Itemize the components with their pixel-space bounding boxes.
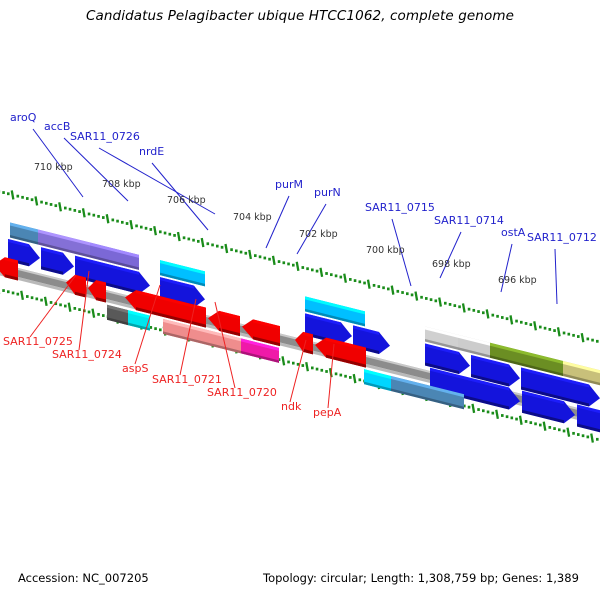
ruler-tick-minor (425, 297, 428, 300)
ruler-tick-minor (335, 274, 338, 277)
ruler-tick-minor (525, 322, 528, 325)
ruler-tick-major (544, 422, 546, 431)
ruler-tick-minor (482, 409, 485, 412)
ruler-tick-minor (468, 308, 471, 311)
ruler-tick-minor (587, 436, 590, 439)
ruler-tick-minor (577, 433, 580, 436)
ruler-tick-major (439, 298, 441, 307)
ruler-tick-minor (591, 339, 594, 342)
ruler-tick-minor (135, 224, 138, 227)
ruler-tick-minor (563, 430, 566, 433)
ruler-tick-minor (173, 234, 176, 237)
ruler-tick-major (178, 232, 180, 241)
ruler-tick-minor (420, 296, 423, 299)
ruler-tick-major (591, 434, 593, 443)
ruler-tick-minor (382, 286, 385, 289)
ruler-tick-minor (539, 326, 542, 329)
ruler-tick-minor (7, 290, 10, 293)
ruler-tick-minor (515, 418, 518, 421)
forward-gene-labels[interactable]: aroQaccBSAR11_0726nrdEpurMpurNSAR11_0715… (10, 111, 597, 244)
ruler-tick-major (59, 202, 61, 211)
ruler-tick-minor (577, 335, 580, 338)
ruler-tick-minor (36, 297, 39, 300)
ruler-tick-minor (150, 228, 153, 231)
gene-feature[interactable] (577, 405, 600, 440)
ruler-tick-minor (69, 208, 72, 211)
ruler-tick-minor (359, 280, 362, 283)
ruler-tick-minor (349, 278, 352, 281)
ruler-tick-minor (97, 313, 100, 316)
ruler-tick-minor (468, 406, 471, 409)
ruler-tick-minor (74, 307, 77, 310)
ruler-tick-minor (292, 362, 295, 365)
ruler-tick-minor (501, 316, 504, 319)
lower-domain-track[interactable] (107, 305, 464, 409)
ruler-tick-minor (406, 292, 409, 295)
ruler-tick-minor (321, 369, 324, 372)
ruler-tick-minor (544, 327, 547, 330)
ruler-tick-minor (78, 210, 81, 213)
ruler-tick-major (297, 262, 299, 271)
ruler-tick-major (473, 404, 475, 413)
gene-label[interactable]: aspS (122, 362, 148, 375)
ruler-tick-major (107, 214, 109, 223)
ruler-tick-minor (340, 276, 343, 279)
ruler-tick-minor (268, 258, 271, 261)
ruler-tick-minor (116, 220, 119, 223)
label-leader-line (64, 138, 128, 201)
ruler-tick-minor (496, 315, 499, 318)
ruler-tick-major (568, 428, 570, 437)
ruler-tick-minor (26, 197, 29, 200)
ruler-tick-minor (26, 295, 29, 298)
ruler-tick-minor (316, 270, 319, 273)
gene-label[interactable]: SAR11_0725 (3, 335, 73, 348)
ruler-tick-minor (482, 311, 485, 314)
ruler-tick-minor (477, 310, 480, 313)
gene-label[interactable]: nrdE (139, 145, 164, 158)
ruler-tick-minor (344, 375, 347, 378)
ruler-tick-minor (17, 195, 20, 198)
ruler-tick-minor (530, 421, 533, 424)
ruler-tick-minor (553, 329, 556, 332)
ruler-tick-major (12, 190, 14, 199)
ruler-tick-minor (596, 340, 599, 343)
ruler-tick-minor (74, 209, 77, 212)
ruler-tick-minor (230, 248, 233, 251)
gene-feature[interactable] (295, 332, 313, 354)
ruler-tick-minor (59, 303, 62, 306)
ruler-tick-minor (211, 244, 214, 247)
gene-label[interactable]: aroQ (10, 111, 37, 124)
ruler-tick-minor (12, 292, 15, 295)
ruler-tick-minor (335, 372, 338, 375)
ruler-tick-minor (159, 328, 162, 331)
ruler-tick-minor (78, 308, 81, 311)
ruler-tick-minor (435, 299, 438, 302)
ruler-tick-minor (349, 376, 352, 379)
gene-label[interactable]: ostA (501, 226, 526, 239)
ruler-tick-minor (525, 420, 528, 423)
ruler-tick-major (520, 416, 522, 425)
ruler-tick-minor (492, 314, 495, 317)
ruler-tick-minor (473, 309, 476, 312)
ruler-tick-major (154, 226, 156, 235)
ruler-tick-minor (102, 216, 105, 219)
ruler-tick-minor (2, 191, 5, 194)
gene-label[interactable]: SAR11_0720 (207, 386, 277, 399)
ruler-tick-minor (183, 236, 186, 239)
ruler-tick-minor (539, 424, 542, 427)
ruler-tick-minor (283, 261, 286, 264)
ruler-tick-minor (316, 368, 319, 371)
ruler-tick-minor (378, 285, 381, 288)
ruler-tick-minor (311, 367, 314, 370)
ruler-tick-major (69, 303, 71, 312)
coordinate-tick-label: 704 kbp (233, 212, 272, 223)
domain-segment[interactable] (364, 369, 391, 391)
ruler-tick-major (416, 292, 418, 301)
ruler-tick-minor (477, 408, 480, 411)
ruler-tick-minor (245, 252, 248, 255)
domain-segment[interactable] (458, 335, 490, 358)
ruler-tick-minor (563, 332, 566, 335)
ruler-tick-minor (31, 198, 34, 201)
ruler-tick-major (131, 220, 133, 229)
ruler-tick-minor (221, 246, 224, 249)
gene-label[interactable]: SAR11_0726 (70, 130, 140, 143)
ruler-tick-minor (50, 203, 53, 206)
ruler-tick-major (487, 309, 489, 318)
ruler-tick-minor (126, 222, 129, 225)
gene-label[interactable]: SAR11_0712 (527, 231, 597, 244)
coordinate-tick-label: 700 kbp (366, 245, 405, 256)
ruler-tick-major (36, 196, 38, 205)
accession-status: Accession: NC_007205 (18, 571, 149, 585)
coordinate-tick-label: 710 kbp (34, 162, 73, 173)
gene-label[interactable]: purN (314, 186, 341, 199)
ruler-tick-minor (287, 361, 290, 364)
ruler-tick-major (83, 208, 85, 217)
ruler-tick-minor (302, 266, 305, 269)
ruler-tick-minor (511, 416, 514, 419)
ruler-tick-minor (102, 314, 105, 317)
ruler-tick-major (463, 303, 465, 312)
ruler-tick-minor (278, 260, 281, 263)
ruler-tick-minor (572, 432, 575, 435)
ruler-tick-minor (64, 305, 67, 308)
coordinate-tick-label: 702 kbp (299, 229, 338, 240)
ruler-tick-minor (292, 264, 295, 267)
ruler-tick-minor (21, 196, 24, 199)
ruler-tick-minor (397, 290, 400, 293)
ruler-tick-minor (558, 428, 561, 431)
ruler-tick-minor (188, 238, 191, 241)
ruler-tick-minor (97, 215, 100, 218)
ruler-tick-minor (549, 426, 552, 429)
ruler-tick-minor (145, 227, 148, 230)
ruler-tick-minor (306, 267, 309, 270)
label-leader-line (440, 232, 461, 278)
genome-map-canvas[interactable]: 710 kbp708 kbp706 kbp704 kbp702 kbp700 k… (0, 0, 600, 600)
ruler-tick-minor (240, 251, 243, 254)
ruler-tick-minor (7, 192, 10, 195)
ruler-tick-major (93, 309, 95, 318)
gene-label[interactable]: ndk (281, 400, 302, 413)
ruler-tick-minor (159, 230, 162, 233)
ruler-tick-major (582, 333, 584, 342)
ruler-tick-minor (88, 311, 91, 314)
ruler-tick-minor (401, 291, 404, 294)
ruler-tick-major (226, 244, 228, 253)
ruler-tick-minor (45, 202, 48, 205)
ruler-tick-minor (121, 221, 124, 224)
gene-label[interactable]: SAR11_0721 (152, 373, 222, 386)
ruler-tick-minor (287, 263, 290, 266)
ruler-tick-minor (449, 303, 452, 306)
ruler-tick-major (21, 291, 23, 300)
ruler-tick-minor (2, 289, 5, 292)
ruler-tick-major (273, 256, 275, 265)
ruler-tick-minor (40, 201, 43, 204)
ruler-tick-minor (506, 317, 509, 320)
ruler-tick-major (321, 268, 323, 277)
ruler-tick-minor (553, 427, 556, 430)
ruler-tick-major (45, 297, 47, 306)
ruler-tick-minor (325, 370, 328, 373)
ruler-tick-minor (444, 302, 447, 305)
ruler-tick-minor (207, 242, 210, 245)
ruler-tick-minor (192, 239, 195, 242)
ruler-tick-minor (492, 412, 495, 415)
ruler-tick-minor (501, 414, 504, 417)
genome-summary-status: Topology: circular; Length: 1,308,759 bp… (263, 571, 579, 585)
gene-label[interactable]: SAR11_0714 (434, 214, 504, 227)
ruler-tick-major (534, 321, 536, 330)
ruler-tick-minor (31, 296, 34, 299)
gene-label[interactable]: accB (44, 120, 70, 133)
ruler-tick-minor (568, 333, 571, 336)
ruler-tick-minor (50, 301, 53, 304)
ruler-tick-minor (458, 305, 461, 308)
coordinate-tick-label: 708 kbp (102, 179, 141, 190)
ruler-tick-minor (197, 240, 200, 243)
ruler-tick-minor (534, 422, 537, 425)
ruler-tick-minor (93, 214, 96, 217)
ruler-tick-minor (169, 233, 172, 236)
label-leader-line (555, 249, 557, 304)
gene-feature[interactable] (66, 275, 86, 298)
ruler-tick-minor (359, 378, 362, 381)
ruler-tick-major (392, 286, 394, 295)
ruler-tick-minor (515, 320, 518, 323)
ruler-tick-minor (140, 226, 143, 229)
ruler-tick-major (558, 327, 560, 336)
ruler-tick-minor (582, 434, 585, 437)
ruler-tick-major (283, 356, 285, 365)
coordinate-tick-label: 696 kbp (498, 275, 537, 286)
ruler-tick-minor (264, 257, 267, 260)
gene-feature[interactable] (0, 257, 18, 280)
ruler-tick-minor (549, 328, 552, 331)
ruler-tick-minor (354, 279, 357, 282)
ruler-tick-minor (596, 438, 599, 441)
ruler-tick-minor (64, 207, 67, 210)
ruler-tick-major (249, 250, 251, 259)
gene-label[interactable]: SAR11_0724 (52, 348, 122, 361)
genome-viewer-window: Candidatus Pelagibacter ubique HTCC1062,… (0, 0, 600, 600)
ruler-tick-minor (112, 219, 115, 222)
ruler-tick-minor (454, 304, 457, 307)
ruler-tick-minor (325, 272, 328, 275)
ruler-tick-minor (302, 364, 305, 367)
ruler-tick-minor (520, 321, 523, 324)
gene-label[interactable]: SAR11_0715 (365, 201, 435, 214)
ruler-tick-minor (311, 269, 314, 272)
ruler-tick-minor (254, 254, 257, 257)
ruler-tick-major (368, 280, 370, 289)
ruler-tick-minor (88, 213, 91, 216)
ruler-tick-minor (330, 273, 333, 276)
ruler-tick-minor (235, 249, 238, 252)
gene-label[interactable]: purM (275, 178, 303, 191)
ruler-tick-minor (40, 299, 43, 302)
ruler-tick-minor (387, 288, 390, 291)
ruler-tick-minor (572, 334, 575, 337)
ruler-tick-minor (259, 255, 262, 258)
domain-segment[interactable] (107, 305, 128, 325)
ruler-tick-minor (530, 323, 533, 326)
gene-feature[interactable] (88, 280, 106, 302)
ruler-tick-minor (506, 415, 509, 418)
ruler-tick-minor (154, 327, 157, 330)
gene-label[interactable]: pepA (313, 406, 342, 419)
ruler-tick-minor (17, 293, 20, 296)
coordinate-tick-label: 706 kbp (167, 195, 206, 206)
ruler-tick-major (354, 374, 356, 383)
ruler-tick-major (202, 238, 204, 247)
ruler-tick-minor (373, 284, 376, 287)
ruler-tick-minor (363, 282, 366, 285)
ruler-tick-major (306, 362, 308, 371)
coordinate-tick-label: 698 kbp (432, 259, 471, 270)
ruler-tick-major (511, 315, 513, 324)
ruler-tick-major (496, 410, 498, 419)
ruler-tick-minor (340, 374, 343, 377)
ruler-tick-minor (164, 232, 167, 235)
ruler-tick-minor (587, 338, 590, 341)
ruler-tick-minor (55, 204, 58, 207)
ruler-tick-minor (216, 245, 219, 248)
ruler-tick-minor (430, 298, 433, 301)
ruler-tick-major (344, 274, 346, 283)
ruler-tick-minor (487, 411, 490, 414)
ruler-tick-minor (411, 293, 414, 296)
